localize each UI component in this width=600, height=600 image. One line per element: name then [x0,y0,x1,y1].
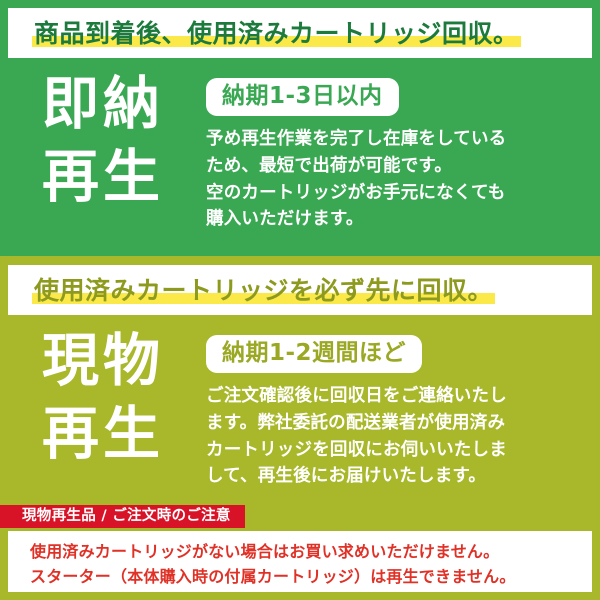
green-body-line-1: 予め再生作業を完了し在庫をしている [206,126,600,153]
olive-body-line-2: ます。弊社委託の配送業者が使用済み [206,410,600,437]
green-content-row: 即納 再生 納期1-3日以内 予め再生作業を完了し在庫をしている ため、最短で出… [0,66,600,233]
green-header-title-text: 商品到着後、使用済みカートリッジ回収。 [34,19,519,48]
notice-footer-line-1: 使用済みカートリッジがない場合はお買い求めいただけません。 [30,539,592,564]
olive-big-word-line-1: 現物 [0,325,206,398]
olive-header-band: 使用済みカートリッジを必ず先に回収。 [8,265,592,315]
olive-delivery-badge: 納期1-2週間ほど [206,335,422,373]
green-details: 納期1-3日以内 予め再生作業を完了し在庫をしている ため、最短で出荷が可能です… [206,66,600,233]
olive-body-line-1: ご注文確認後に回収日をご連絡いたし [206,383,600,410]
promo-poster: 商品到着後、使用済みカートリッジ回収。 即納 再生 納期1-3日以内 予め再生作… [0,0,600,600]
green-big-word-line-2: 再生 [0,141,206,214]
olive-body-line-4: して、再生後にお届けいたします。 [206,463,600,490]
olive-body-text: ご注文確認後に回収日をご連絡いたし ます。弊社委託の配送業者が使用済み カートリ… [206,383,600,489]
green-body-line-2: ため、最短で出荷が可能です。 [206,153,600,180]
olive-content-row: 現物 再生 納期1-2週間ほど ご注文確認後に回収日をご連絡いたし ます。弊社委… [0,323,600,490]
olive-header-title-text: 使用済みカートリッジを必ず先に回収。 [34,276,493,305]
notice-footer-line-2: スターター（本体購入時の付属カートリッジ）は再生できません。 [30,564,592,589]
green-body-line-3: 空のカートリッジがお手元になくても [206,180,600,207]
notice-banner: 現物再生品 / ご注文時のご注意 [0,505,245,528]
olive-big-word-line-2: 再生 [0,398,206,471]
green-body-line-4: 購入いただけます。 [206,206,600,233]
green-big-word-line-1: 即納 [0,68,206,141]
green-big-word: 即納 再生 [0,66,206,214]
green-header-band: 商品到着後、使用済みカートリッジ回収。 [8,8,592,58]
olive-big-word: 現物 再生 [0,323,206,471]
green-header-title: 商品到着後、使用済みカートリッジ回収。 [34,21,519,46]
olive-header-title: 使用済みカートリッジを必ず先に回収。 [34,278,493,303]
notice-footer-box: 使用済みカートリッジがない場合はお買い求めいただけません。 スターター（本体購入… [8,531,592,592]
green-delivery-badge: 納期1-3日以内 [206,78,399,116]
olive-body-line-3: カートリッジを回収にお伺いいたしま [206,437,600,464]
green-body-text: 予め再生作業を完了し在庫をしている ため、最短で出荷が可能です。 空のカートリッ… [206,126,600,232]
olive-details: 納期1-2週間ほど ご注文確認後に回収日をご連絡いたし ます。弊社委託の配送業者… [206,323,600,490]
